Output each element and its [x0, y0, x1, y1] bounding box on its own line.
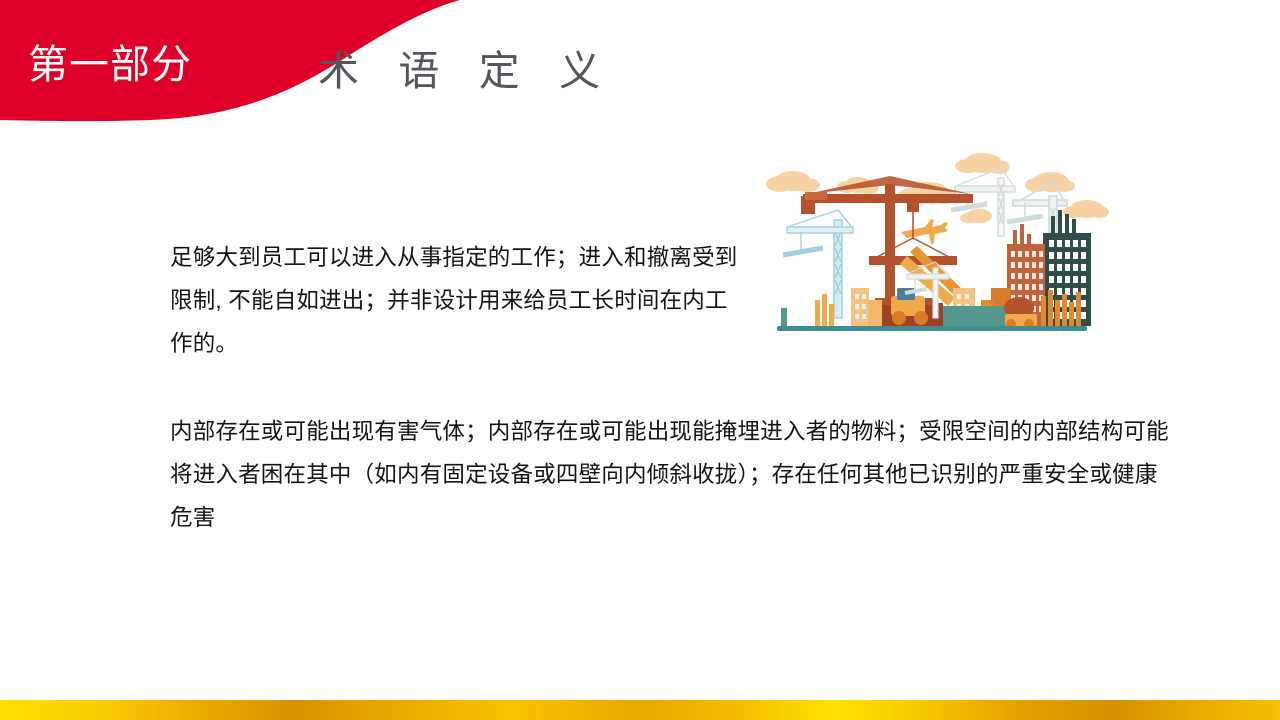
building-tan-1 [851, 288, 869, 326]
cloud-icon [960, 209, 992, 223]
page-title: 术 语 定 义 [318, 44, 614, 98]
slide-canvas: 第一部分 术 语 定 义 足够大到员工可以进入从事指定的工作；进入和撤离受到限制… [0, 0, 1280, 720]
cloud-icon [955, 153, 1010, 174]
body-paragraph-1: 足够大到员工可以进入从事指定的工作；进入和撤离受到限制, 不能自如进出；并非设计… [170, 236, 745, 365]
cloud-icon [766, 171, 820, 192]
cloud-icon [1063, 200, 1109, 218]
ground-strip [777, 326, 1087, 331]
building-tan-2 [868, 300, 882, 326]
construction-site-illustration [755, 148, 1205, 348]
footer-gold-bar [0, 700, 1280, 720]
small-towers-2 [815, 294, 834, 326]
body-paragraph-2: 内部存在或可能出现有害气体；内部存在或可能出现能掩埋进入者的物料；受限空间的内部… [170, 410, 1170, 539]
section-label: 第一部分 [28, 38, 192, 92]
cloud-icon [1025, 172, 1075, 192]
platform-teal-2 [781, 308, 787, 326]
